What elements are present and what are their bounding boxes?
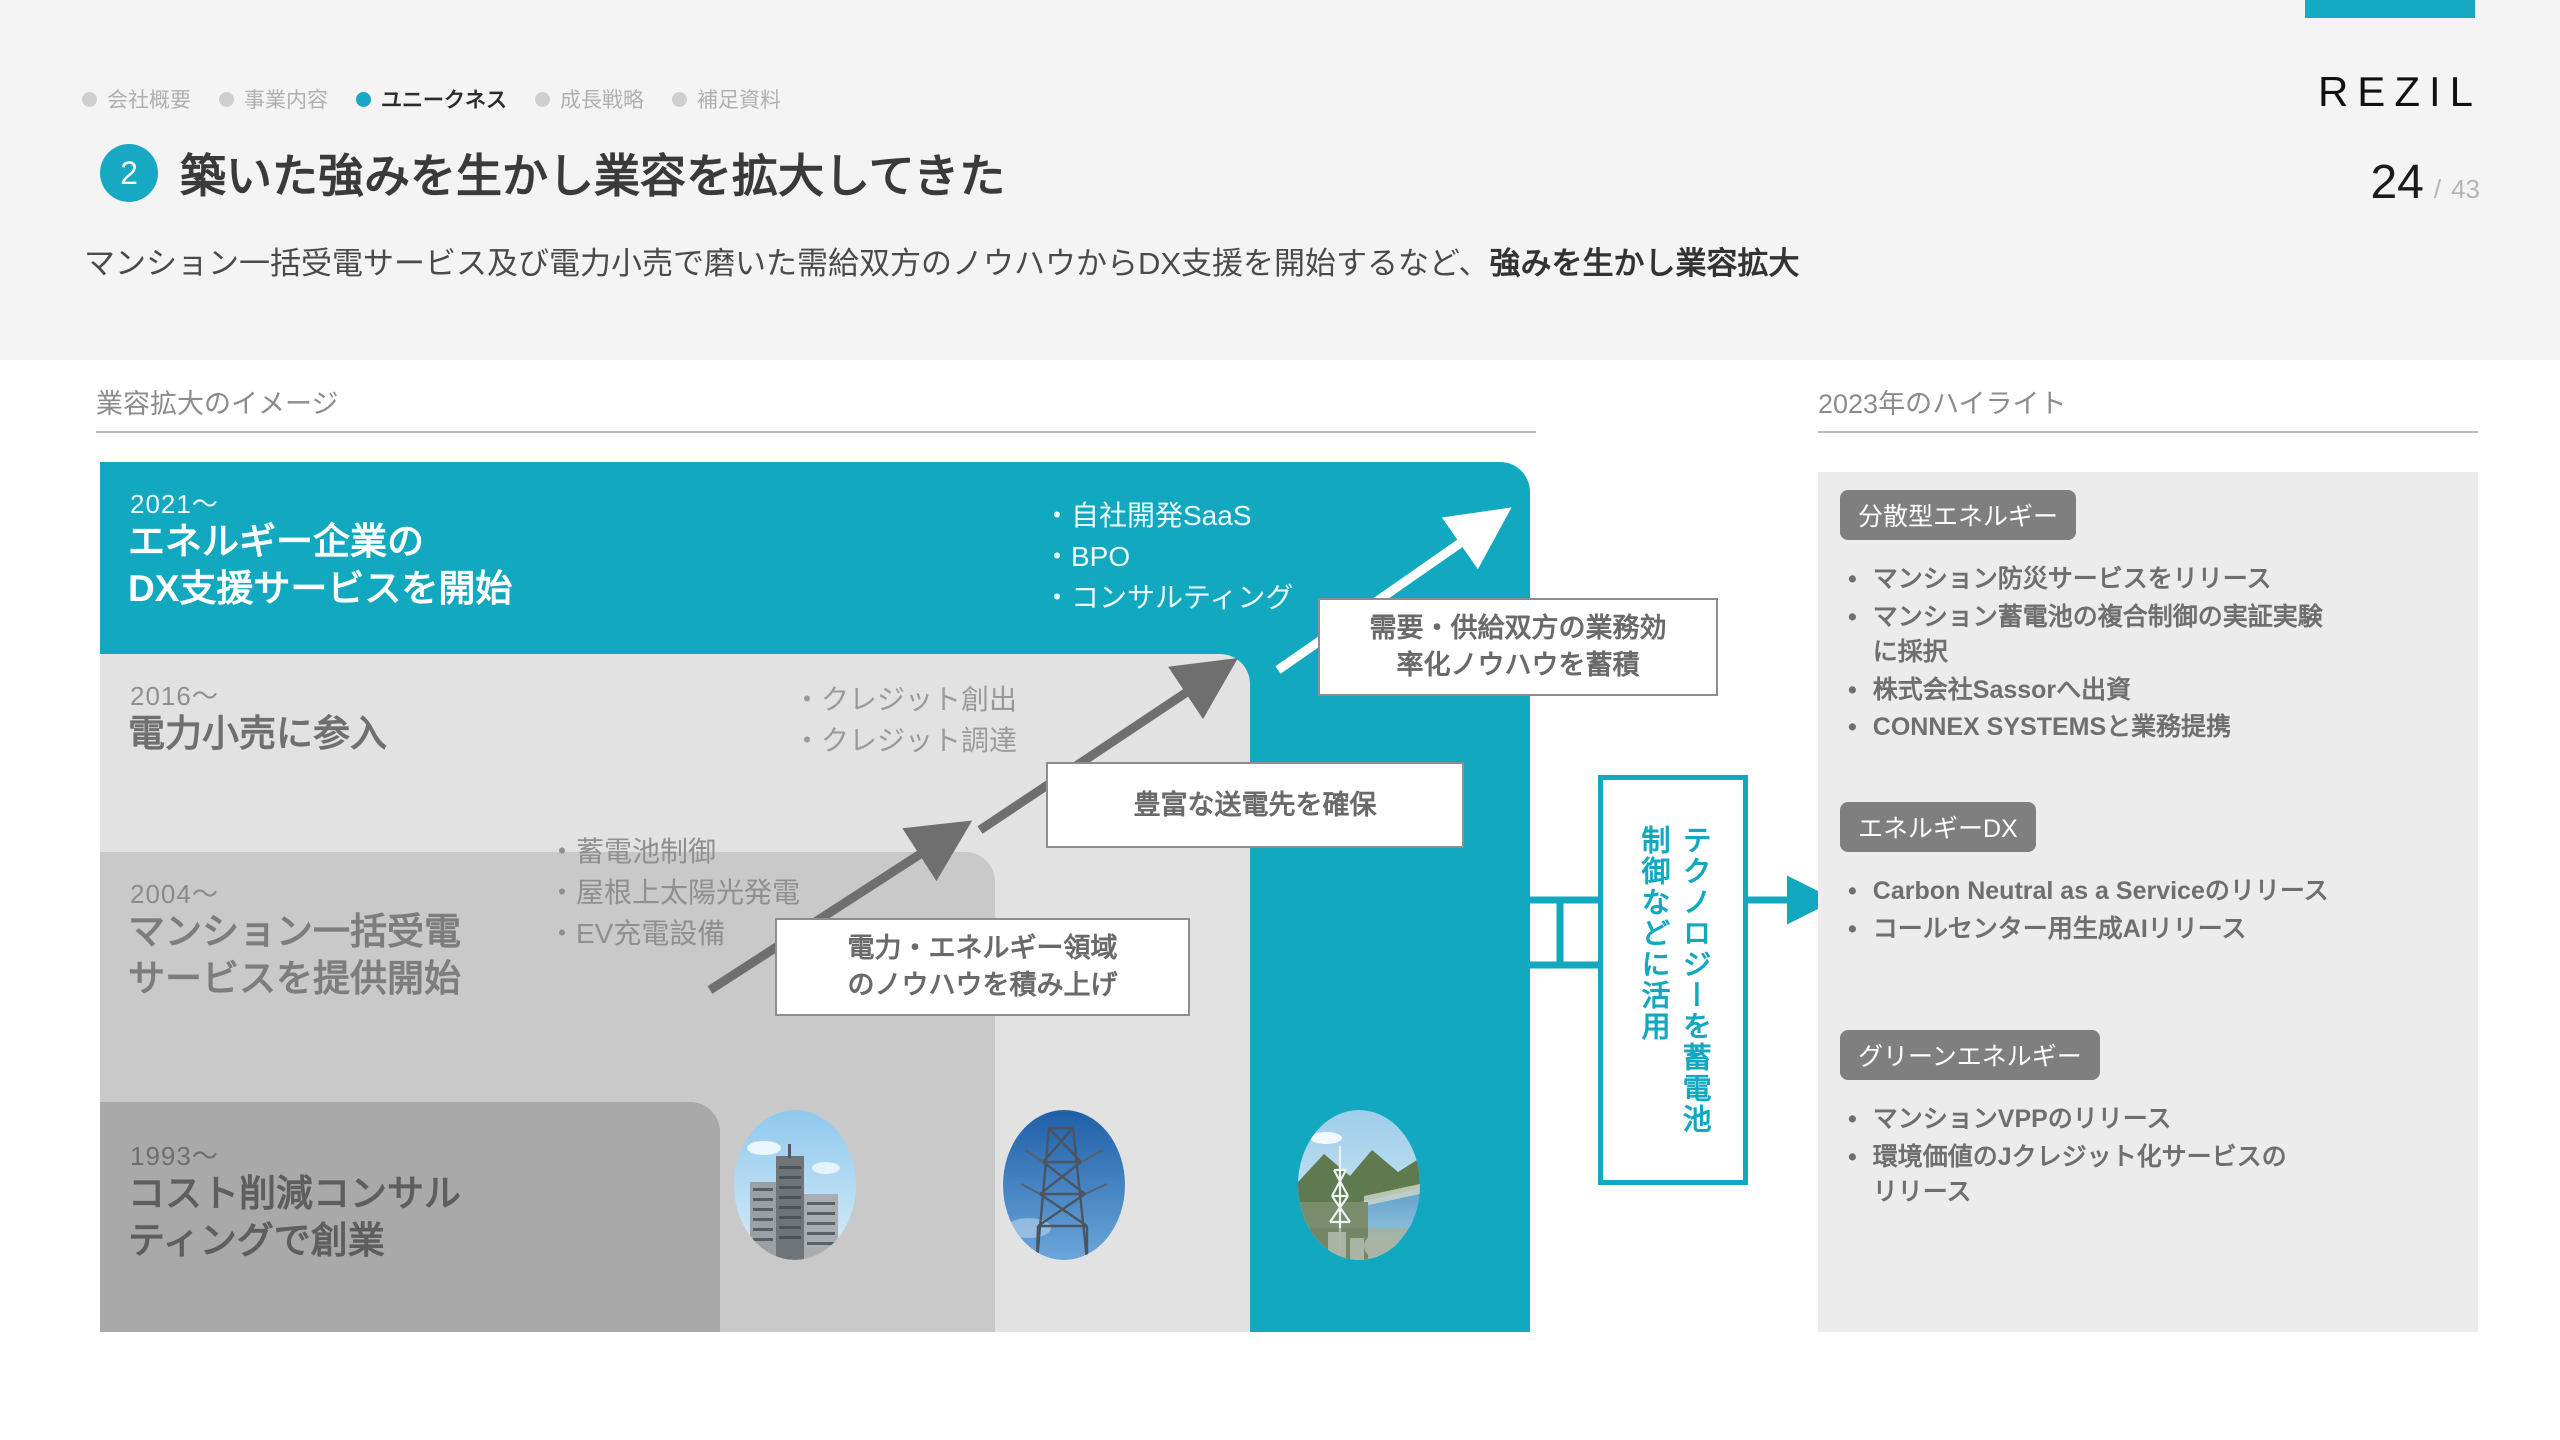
right-section-heading: 2023年のハイライト (1818, 382, 2478, 433)
nav-tab-label: 事業内容 (244, 84, 328, 114)
apartment-building-photo (734, 1110, 856, 1260)
page-total: 43 (2451, 174, 2480, 205)
highlight-text: CONNEX SYSTEMSと業務提携 (1873, 710, 2231, 746)
layer-heading: マンション一括受電 サービスを提供開始 (128, 908, 461, 1003)
highlight-list: • マンションVPPのリリース • 環境価値のJクレジット化サービスの リリース (1840, 1102, 2460, 1211)
page-separator: / (2434, 174, 2441, 205)
bullet-icon: • (1848, 1102, 1857, 1138)
callout-energy-knowhow: 電力・エネルギー領域 のノウハウを積み上げ (775, 918, 1190, 1016)
nav-dot-icon (672, 92, 687, 107)
right-section-rule (1818, 431, 2478, 433)
page-current: 24 (2370, 155, 2423, 210)
highlight-chip: 分散型エネルギー (1840, 490, 2076, 540)
layer-year: 1993〜 (130, 1136, 219, 1173)
highlight-text: マンションVPPのリリース (1873, 1102, 2172, 1138)
bullet-icon: • (1848, 1140, 1857, 1211)
nav-tab-0[interactable]: 会社概要 (82, 84, 191, 114)
page-subtitle: マンション一括受電サービス及び電力小売で磨いた需給双方のノウハウからDX支援を開… (84, 238, 1800, 283)
layer-heading: 電力小売に参入 (128, 710, 387, 757)
nav-dot-icon (219, 92, 234, 107)
layer-heading: エネルギー企業の DX支援サービスを開始 (128, 518, 512, 613)
layer-bullets-2016: ・クレジット創出 ・クレジット調達 (793, 680, 1017, 762)
layer-year: 2021〜 (130, 484, 219, 521)
nav-dot-icon (535, 92, 550, 107)
nav-dot-icon (82, 92, 97, 107)
bullet-icon: • (1848, 600, 1857, 671)
nav-tab-4[interactable]: 補足資料 (672, 84, 781, 114)
highlight-item: • マンションVPPのリリース (1848, 1102, 2460, 1138)
page-indicator: 24 / 43 (2370, 155, 2480, 210)
layer-year: 2004〜 (130, 874, 219, 911)
nav-tab-label: 補足資料 (697, 84, 781, 114)
callout-demand-supply: 需要・供給双方の業務効 率化ノウハウを蓄積 (1318, 598, 1718, 696)
highlight-group-green-energy: グリーンエネルギー • マンションVPPのリリース • 環境価値のJクレジット化… (1840, 1030, 2460, 1213)
highlight-item: • コールセンター用生成AIリリース (1848, 912, 2460, 948)
nav-tab-label: 会社概要 (107, 84, 191, 114)
right-section-label: 2023年のハイライト (1818, 382, 2478, 421)
nav-tab-label: 成長戦略 (560, 84, 644, 114)
highlight-item: • Carbon Neutral as a Serviceのリリース (1848, 874, 2460, 910)
highlight-group-energy-dx: エネルギーDX • Carbon Neutral as a Serviceのリリ… (1840, 802, 2460, 949)
subtitle-normal: マンション一括受電サービス及び電力小売で磨いた需給双方のノウハウからDX支援を開… (84, 246, 1490, 281)
title-number-badge: 2 (100, 144, 158, 202)
highlight-text: マンション蓄電池の複合制御の実証実験 に採択 (1873, 600, 2323, 671)
nav-dot-icon (356, 92, 371, 107)
highlight-item: • 株式会社Sassorへ出資 (1848, 673, 2460, 709)
teal-connector-left (1530, 900, 1598, 965)
layer-bullets-2004: ・蓄電池制御 ・屋根上太陽光発電 ・EV充電設備 (548, 832, 800, 955)
nav-tab-label: ユニークネス (381, 84, 507, 114)
nav-tab-1[interactable]: 事業内容 (219, 84, 328, 114)
technology-utilization-box: テクノロジーを蓄電池 制御などに活用 (1598, 775, 1748, 1185)
highlight-item: • CONNEX SYSTEMSと業務提携 (1848, 710, 2460, 746)
layer-bullets-2021: ・自社開発SaaS ・BPO ・コンサルティング (1043, 496, 1293, 619)
left-section-rule (96, 431, 1536, 433)
accent-bar (2305, 0, 2475, 18)
bullet-icon: • (1848, 874, 1857, 910)
highlight-text: コールセンター用生成AIリリース (1873, 912, 2247, 948)
stack-layer-1993: 1993〜 コスト削減コンサル ティングで創業 (100, 1102, 720, 1332)
section-nav: 会社概要 事業内容 ユニークネス 成長戦略 補足資料 (82, 84, 781, 114)
slide-root: REZIL 24 / 43 会社概要 事業内容 ユニークネス 成長戦略 補足資料… (0, 0, 2560, 1440)
highlight-text: 株式会社Sassorへ出資 (1873, 673, 2131, 709)
highlight-item: • マンション防災サービスをリリース (1848, 562, 2460, 598)
nav-tab-2[interactable]: ユニークネス (356, 84, 507, 114)
highlight-group-distributed-energy: 分散型エネルギー • マンション防災サービスをリリース • マンション蓄電池の複… (1840, 490, 2460, 748)
highlight-item: • 環境価値のJクレジット化サービスの リリース (1848, 1140, 2460, 1211)
highlight-list: • Carbon Neutral as a Serviceのリリース • コール… (1840, 874, 2460, 947)
left-section-heading: 業容拡大のイメージ (96, 382, 1536, 433)
highlight-text: 環境価値のJクレジット化サービスの リリース (1873, 1140, 2287, 1211)
highlight-list: • マンション防災サービスをリリース • マンション蓄電池の複合制御の実証実験 … (1840, 562, 2460, 746)
highlight-chip: エネルギーDX (1840, 802, 2036, 852)
highlights-panel: 分散型エネルギー • マンション防災サービスをリリース • マンション蓄電池の複… (1818, 472, 2478, 1332)
page-title: 築いた強みを生かし業容を拡大してきた (180, 140, 1005, 206)
layer-year: 2016〜 (130, 676, 219, 713)
bullet-icon: • (1848, 562, 1857, 598)
transmission-tower-photo (1003, 1110, 1125, 1260)
bullet-icon: • (1848, 912, 1857, 948)
bullet-icon: • (1848, 673, 1857, 709)
layer-heading: コスト削減コンサル ティングで創業 (128, 1170, 461, 1265)
highlight-text: Carbon Neutral as a Serviceのリリース (1873, 874, 2329, 910)
page-title-row: 2 築いた強みを生かし業容を拡大してきた (100, 140, 1005, 206)
technology-utilization-text: テクノロジーを蓄電池 制御などに活用 (1632, 825, 1714, 1135)
highlight-chip: グリーンエネルギー (1840, 1030, 2100, 1080)
power-plant-coastal-photo (1298, 1110, 1420, 1260)
callout-power-destinations: 豊富な送電先を確保 (1046, 762, 1464, 848)
left-section-label: 業容拡大のイメージ (96, 382, 1536, 421)
bullet-icon: • (1848, 710, 1857, 746)
brand-logo: REZIL (2318, 68, 2482, 116)
nav-tab-3[interactable]: 成長戦略 (535, 84, 644, 114)
subtitle-emphasis: 強みを生かし業容拡大 (1490, 246, 1800, 281)
highlight-item: • マンション蓄電池の複合制御の実証実験 に採択 (1848, 600, 2460, 671)
highlight-text: マンション防災サービスをリリース (1873, 562, 2272, 598)
